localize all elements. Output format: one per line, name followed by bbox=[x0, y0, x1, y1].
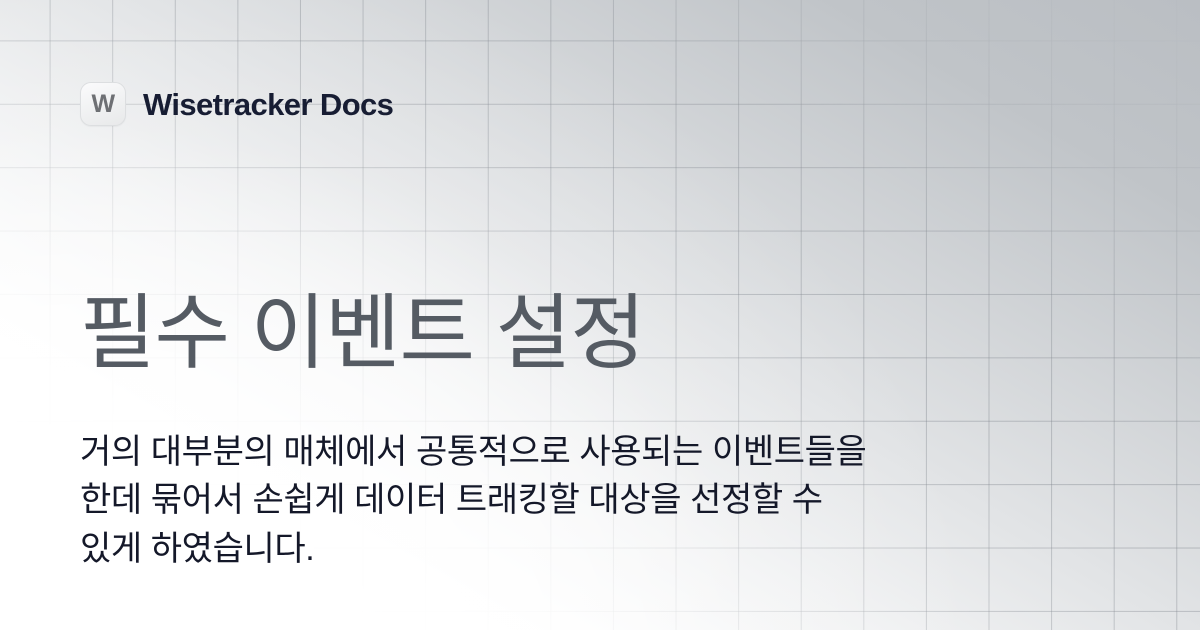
og-card: W Wisetracker Docs 필수 이벤트 설정 거의 대부분의 매체에… bbox=[0, 0, 1200, 630]
card-content: W Wisetracker Docs 필수 이벤트 설정 거의 대부분의 매체에… bbox=[0, 0, 1200, 630]
brand-name: Wisetracker Docs bbox=[143, 89, 393, 120]
page-description: 거의 대부분의 매체에서 공통적으로 사용되는 이벤트들을 한데 묶어서 손쉽게… bbox=[80, 428, 880, 573]
brand-lockup: W Wisetracker Docs bbox=[80, 82, 393, 126]
wisetracker-w-logo-icon: W bbox=[80, 82, 126, 126]
page-title: 필수 이벤트 설정 bbox=[80, 288, 645, 380]
